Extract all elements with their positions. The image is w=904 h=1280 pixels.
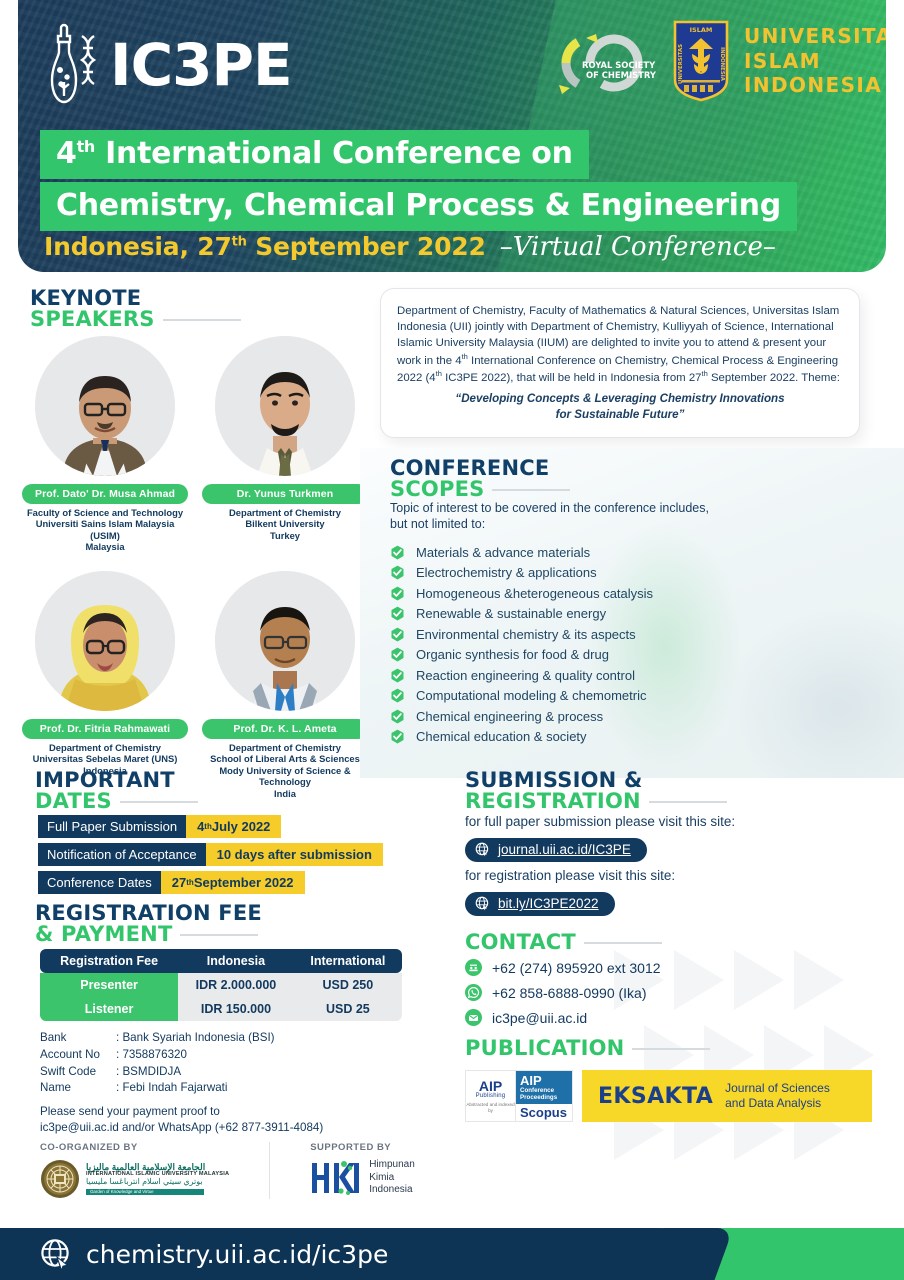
speaker-row-1: Prof. Dato' Dr. Musa Ahmad Faculty of Sc… <box>22 336 372 553</box>
co-organized-label: CO-ORGANIZED BY <box>40 1142 229 1153</box>
aip-publishing-text: Publishing <box>476 1093 506 1099</box>
conference-theme: “Developing Concepts & Leveraging Chemis… <box>397 391 843 424</box>
iium-logo: الجامعة الإسلامية العالمية ماليزيا INTER… <box>40 1159 229 1199</box>
bank-details: Bank: Bank Syariah Indonesia (BSI) Accou… <box>40 1030 323 1135</box>
title-rest: International Conference on <box>95 136 573 171</box>
submission-link-text: journal.uii.ac.id/IC3PE <box>498 842 631 857</box>
footer-website[interactable]: chemistry.uii.ac.id/ic3pe <box>40 1238 388 1271</box>
scopes-items-list: Materials & advance materials Electroche… <box>390 542 820 747</box>
date-label: Notification of Acceptance <box>38 843 206 866</box>
submission-instruction-2: for registration please visit this site: <box>465 868 675 883</box>
iium-malay: بوتري سيتي اسلام انترباڠسا مليسيا <box>86 1178 229 1186</box>
speaker-card: Prof. Dr. Fitria Rahmawati Department of… <box>22 571 188 799</box>
swift-label: Swift Code <box>40 1064 116 1081</box>
speaker-name-badge: Dr. Yunus Turkmen <box>202 484 368 504</box>
supported-by-label: SUPPORTED BY <box>310 1142 415 1153</box>
affiliation-line: Department of Chemistry <box>202 507 368 518</box>
speaker-photo-4 <box>215 571 355 711</box>
svg-text:OF CHEMISTRY: OF CHEMISTRY <box>586 70 657 80</box>
contact-row-email: ic3pe@uii.ac.id <box>465 1005 661 1030</box>
conference-title-line-1: 4th International Conference on <box>40 130 589 179</box>
contact-phone: +62 (274) 895920 ext 3012 <box>492 960 661 976</box>
iium-text: الجامعة الإسلامية العالمية ماليزيا INTER… <box>86 1163 229 1195</box>
title-ordinal: 4 <box>56 136 77 171</box>
submission-link-button[interactable]: journal.uii.ac.id/IC3PE <box>465 838 647 862</box>
scope-item: Electrochemistry & applications <box>390 563 820 583</box>
bank-label: Bank <box>40 1030 116 1047</box>
hki-line-2: Kimia <box>369 1172 415 1185</box>
bank-value: : Bank Syariah Indonesia (BSI) <box>116 1030 275 1047</box>
hki-line-1: Himpunan <box>369 1159 415 1172</box>
speaker-avatar <box>35 336 175 476</box>
aip-logo: AIP Publishing Abstracted and indexed by… <box>465 1070 573 1122</box>
check-icon <box>390 565 405 580</box>
date-value: 10 days after submission <box>206 843 383 866</box>
globe-cursor-icon <box>475 842 490 857</box>
conference-title-line-2: Chemistry, Chemical Process & Engineerin… <box>40 182 797 231</box>
speaker-avatar <box>215 336 355 476</box>
aip-conference-block: AIP Conference Proceedings Scopus <box>516 1071 572 1121</box>
date-label: Full Paper Submission <box>38 815 186 838</box>
fee-role: Presenter <box>40 973 178 997</box>
publication-heading: PUBLICATION <box>465 1036 624 1060</box>
ic3pe-logo: IC3PE <box>44 22 292 108</box>
ic3pe-wordmark: IC3PE <box>110 36 292 94</box>
svg-text:UNIVERSITAS: UNIVERSITAS <box>678 44 684 84</box>
scope-item: Reaction engineering & quality control <box>390 665 820 685</box>
keynote-section-heading: KEYNOTE SPEAKERS <box>30 288 241 330</box>
scopes-section-heading: CONFERENCE SCOPES <box>390 458 570 500</box>
submission-instruction-1: for full paper submission please visit t… <box>465 814 735 829</box>
scope-label: Chemical engineering & process <box>416 709 603 724</box>
phone-icon <box>465 959 482 976</box>
speaker-avatar <box>35 571 175 711</box>
affiliation-line: Department of Chemistry <box>22 742 188 753</box>
scope-item: Chemical education & society <box>390 727 820 747</box>
scope-label: Materials & advance materials <box>416 545 590 560</box>
scopes-intro: Topic of interest to be covered in the c… <box>390 500 810 533</box>
submission-section-heading: SUBMISSION & REGISTRATION <box>465 770 727 812</box>
important-dates-table: Full Paper Submission 4th July 2022 Noti… <box>38 815 383 899</box>
submission-heading-line-1: SUBMISSION & <box>465 770 727 791</box>
fee-indonesia: IDR 150.000 <box>178 997 294 1021</box>
svg-text:ROYAL SOCIETY: ROYAL SOCIETY <box>582 60 656 70</box>
heading-rule <box>584 942 662 944</box>
co-organized-column: CO-ORGANIZED BY الجامعة الإسلامية العالم <box>40 1142 229 1199</box>
affiliation-line: Universiti Sains Islam Malaysia (USIM) <box>22 518 188 541</box>
scopus-text: Scopus <box>516 1104 572 1121</box>
affiliation-line: Malaysia <box>22 541 188 552</box>
registration-fee-table: Registration Fee Indonesia International… <box>40 949 402 1021</box>
scopes-intro-line-2: but not limited to: <box>390 516 810 532</box>
globe-cursor-icon <box>475 896 490 911</box>
scope-item: Chemical engineering & process <box>390 706 820 726</box>
speaker-name-badge: Prof. Dato' Dr. Musa Ahmad <box>22 484 188 504</box>
scope-label: Organic synthesis for food & drug <box>416 647 609 662</box>
speaker-photo-1 <box>35 336 175 476</box>
check-icon <box>390 627 405 642</box>
hki-mark-icon <box>310 1159 362 1197</box>
uii-shield-icon: ISLAM UNIVERSITAS INDONESIA <box>670 18 732 104</box>
keynote-heading-line-2: SPEAKERS <box>30 307 155 331</box>
publication-section-heading: PUBLICATION <box>465 1038 710 1059</box>
check-icon <box>390 586 405 601</box>
scopes-heading-line-2: SCOPES <box>390 477 484 501</box>
invitation-paragraph: Department of Chemistry, Faculty of Math… <box>397 303 843 386</box>
conference-poster: IC3PE ROYAL SOCIETY OF CHEMISTRY ISLAM U… <box>0 0 904 1280</box>
affiliation-line: Mody University of Science & Technology <box>202 765 368 788</box>
name-row: Name: Febi Indah Fajarwati <box>40 1080 323 1097</box>
heading-rule <box>492 489 570 491</box>
account-value: : 7358876320 <box>116 1047 187 1064</box>
registration-link-button[interactable]: bit.ly/IC3PE2022 <box>465 892 615 916</box>
uii-logo: ISLAM UNIVERSITAS INDONESIA <box>670 18 886 104</box>
keynote-heading-line-1: KEYNOTE <box>30 288 241 309</box>
date-label: Conference Dates <box>38 871 161 894</box>
payment-note-line-1: Please send your payment proof to <box>40 1104 323 1120</box>
scope-label: Environmental chemistry & its aspects <box>416 627 636 642</box>
fee-heading-line-2: & PAYMENT <box>35 922 172 946</box>
speaker-affiliation: Department of Chemistry Bilkent Universi… <box>202 507 368 541</box>
name-value: : Febi Indah Fajarwati <box>116 1080 227 1097</box>
virtual-conference-label: –Virtual Conference– <box>500 232 776 262</box>
uii-line-3: INDONESIA <box>744 73 886 97</box>
scope-label: Computational modeling & chemometric <box>416 688 647 703</box>
eksakta-name: EKSAKTA <box>598 1084 713 1109</box>
uii-line-1: UNIVERSITAS <box>744 24 886 48</box>
affiliation-line: School of Liberal Arts & Sciences <box>202 753 368 764</box>
fee-col-header: Registration Fee <box>40 949 178 973</box>
affiliation-line: Universitas Sebelas Maret (UNS) <box>22 753 188 764</box>
contact-email: ic3pe@uii.ac.id <box>492 1010 587 1026</box>
scopes-heading-line-1: CONFERENCE <box>390 458 570 479</box>
conference-date-line: Indonesia, 27th September 2022 –Virtual … <box>44 232 776 262</box>
scope-item: Materials & advance materials <box>390 542 820 562</box>
contact-section-heading: CONTACT <box>465 932 662 953</box>
payment-note-line-2: ic3pe@uii.ac.id and/or WhatsApp (+62 877… <box>40 1120 323 1136</box>
aip-indexed-text: Abstracted and indexed by <box>466 1102 515 1112</box>
speaker-avatar <box>215 571 355 711</box>
dates-heading-line-2: DATES <box>35 789 112 813</box>
swift-row: Swift Code: BSMDIDJA <box>40 1064 323 1081</box>
scope-item: Organic synthesis for food & drug <box>390 645 820 665</box>
footer-divider <box>269 1142 270 1199</box>
name-label: Name <box>40 1080 116 1097</box>
heading-rule <box>649 801 727 803</box>
scope-label: Homogeneous &heterogeneous catalysis <box>416 586 653 601</box>
scopes-intro-line-1: Topic of interest to be covered in the c… <box>390 500 810 516</box>
svg-text:ISLAM: ISLAM <box>690 26 713 34</box>
fee-section-heading: REGISTRATION FEE & PAYMENT <box>35 903 262 945</box>
affiliation-line: Department of Chemistry <box>202 742 368 753</box>
check-icon <box>390 647 405 662</box>
account-row: Account No: 7358876320 <box>40 1047 323 1064</box>
eksakta-subtitle: Journal of Sciences and Data Analysis <box>725 1081 830 1110</box>
hki-logo: Himpunan Kimia Indonesia <box>310 1159 415 1197</box>
payment-note: Please send your payment proof to ic3pe@… <box>40 1104 323 1135</box>
scope-item: Environmental chemistry & its aspects <box>390 624 820 644</box>
check-icon <box>390 668 405 683</box>
scope-item: Homogeneous &heterogeneous catalysis <box>390 583 820 603</box>
speaker-name-badge: Prof. Dr. K. L. Ameta <box>202 719 368 739</box>
check-icon <box>390 709 405 724</box>
fee-indonesia: IDR 2.000.000 <box>178 973 294 997</box>
contact-heading: CONTACT <box>465 930 576 954</box>
heading-rule <box>180 934 258 936</box>
fee-international: USD 250 <box>294 973 402 997</box>
globe-cursor-icon <box>40 1238 73 1271</box>
affiliation-line: Turkey <box>202 530 368 541</box>
heading-rule <box>120 801 198 803</box>
date-row: Full Paper Submission 4th July 2022 <box>38 815 383 838</box>
contact-row-phone: +62 (274) 895920 ext 3012 <box>465 955 661 980</box>
svg-text:INDONESIA: INDONESIA <box>719 47 725 82</box>
dates-heading-line-1: IMPORTANT <box>35 770 198 791</box>
publication-logos: AIP Publishing Abstracted and indexed by… <box>465 1070 872 1122</box>
title-ordinal-suffix: th <box>77 137 95 156</box>
conference-date: Indonesia, 27th September 2022 <box>44 232 486 261</box>
scope-label: Electrochemistry & applications <box>416 565 597 580</box>
hki-text: Himpunan Kimia Indonesia <box>369 1159 415 1197</box>
hki-line-3: Indonesia <box>369 1184 415 1197</box>
royal-society-of-chemistry-logo: ROYAL SOCIETY OF CHEMISTRY <box>546 24 658 102</box>
invitation-text-box: Department of Chemistry, Faculty of Math… <box>380 288 860 438</box>
registration-link-text: bit.ly/IC3PE2022 <box>498 896 599 911</box>
poster-header: IC3PE ROYAL SOCIETY OF CHEMISTRY ISLAM U… <box>18 0 886 272</box>
aip-conf-line-2: Proceedings <box>520 1094 568 1101</box>
check-icon <box>390 545 405 560</box>
speaker-card: Prof. Dr. K. L. Ameta Department of Chem… <box>202 571 368 799</box>
uii-line-2: ISLAM <box>744 49 886 73</box>
contact-list: +62 (274) 895920 ext 3012 +62 858-6888-0… <box>465 955 661 1030</box>
date-value: 27th September 2022 <box>161 871 305 894</box>
aip-publishing-block: AIP Publishing Abstracted and indexed by <box>466 1071 516 1121</box>
whatsapp-icon <box>465 984 482 1001</box>
speaker-name-badge: Prof. Dr. Fitria Rahmawati <box>22 719 188 739</box>
email-icon <box>465 1009 482 1026</box>
footer-url-text: chemistry.uii.ac.id/ic3pe <box>86 1240 388 1269</box>
scope-item: Computational modeling & chemometric <box>390 686 820 706</box>
table-row: Listener IDR 150.000 USD 25 <box>40 997 402 1021</box>
affiliation-line: Bilkent University <box>202 518 368 529</box>
fee-col-header: Indonesia <box>178 949 294 973</box>
supported-by-column: SUPPORTED BY <box>310 1142 415 1199</box>
speaker-affiliation: Department of Chemistry School of Libera… <box>202 742 368 799</box>
scope-item: Renewable & sustainable energy <box>390 604 820 624</box>
check-icon <box>390 606 405 621</box>
speaker-card: Dr. Yunus Turkmen Department of Chemistr… <box>202 336 368 553</box>
submission-heading-line-2: REGISTRATION <box>465 789 641 813</box>
contact-whatsapp: +62 858-6888-0990 (Ika) <box>492 985 647 1001</box>
scope-label: Renewable & sustainable energy <box>416 606 606 621</box>
organizer-footer: CO-ORGANIZED BY الجامعة الإسلامية العالم <box>40 1142 415 1199</box>
aip-conf-text: AIP <box>520 1074 568 1087</box>
contact-row-whatsapp: +62 858-6888-0990 (Ika) <box>465 980 661 1005</box>
date-row: Notification of Acceptance 10 days after… <box>38 843 383 866</box>
fee-heading-line-1: REGISTRATION FEE <box>35 903 262 924</box>
fee-international: USD 25 <box>294 997 402 1021</box>
check-icon <box>390 729 405 744</box>
speaker-photo-3 <box>35 571 175 711</box>
bank-row: Bank: Bank Syariah Indonesia (BSI) <box>40 1030 323 1047</box>
swift-value: : BSMDIDJA <box>116 1064 181 1081</box>
aip-conf-line-1: Conference <box>520 1087 568 1094</box>
check-icon <box>390 688 405 703</box>
flask-dna-logo-icon <box>44 22 104 108</box>
speaker-photo-2 <box>215 336 355 476</box>
iium-seal-icon <box>40 1159 80 1199</box>
speaker-row-2: Prof. Dr. Fitria Rahmawati Department of… <box>22 571 372 799</box>
iium-tagline: Garden of Knowledge and Virtue <box>86 1189 204 1196</box>
heading-rule <box>163 319 241 321</box>
fee-col-header: International <box>294 949 402 973</box>
account-label: Account No <box>40 1047 116 1064</box>
heading-rule <box>632 1048 710 1050</box>
date-row: Conference Dates 27th September 2022 <box>38 871 383 894</box>
affiliation-line: India <box>202 788 368 799</box>
date-value: 4th July 2022 <box>186 815 281 838</box>
fee-role: Listener <box>40 997 178 1021</box>
scope-label: Reaction engineering & quality control <box>416 668 635 683</box>
eksakta-journal-logo: EKSAKTA Journal of Sciences and Data Ana… <box>582 1070 872 1122</box>
aip-conf-top: AIP Conference Proceedings <box>516 1071 572 1104</box>
aip-text: AIP <box>479 1079 502 1093</box>
keynote-speakers-list: Prof. Dato' Dr. Musa Ahmad Faculty of Sc… <box>22 336 372 799</box>
table-row: Presenter IDR 2.000.000 USD 250 <box>40 973 402 997</box>
speaker-affiliation: Faculty of Science and Technology Univer… <box>22 507 188 553</box>
fee-header-row: Registration Fee Indonesia International <box>40 949 402 973</box>
speaker-card: Prof. Dato' Dr. Musa Ahmad Faculty of Sc… <box>22 336 188 553</box>
scope-label: Chemical education & society <box>416 729 587 744</box>
dates-section-heading: IMPORTANT DATES <box>35 770 198 812</box>
affiliation-line: Faculty of Science and Technology <box>22 507 188 518</box>
